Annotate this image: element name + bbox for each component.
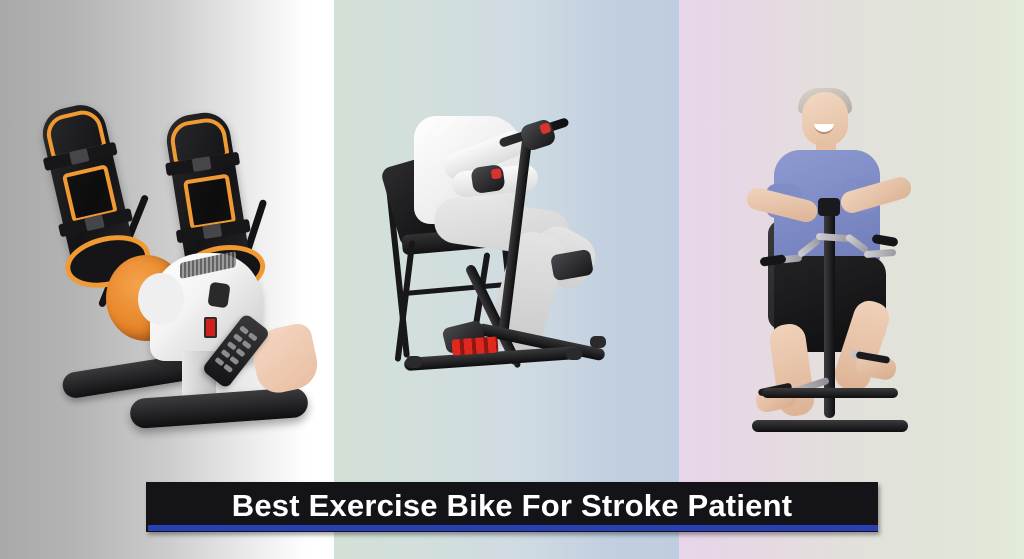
remote-button [248, 332, 258, 341]
housing-side-knob [207, 282, 230, 309]
product-image-upright-pedal-exerciser [380, 100, 640, 400]
resistance-adjuster [451, 336, 498, 355]
glove-accent [491, 168, 502, 179]
glove-accent [539, 122, 552, 135]
power-switch [204, 317, 217, 338]
page-title: Best Exercise Bike For Stroke Patient [232, 490, 792, 521]
product-image-seated-pedal-exerciser-with-user [740, 88, 920, 408]
user-glove-left [470, 164, 505, 194]
leg-brace-buckle-lower [202, 223, 222, 239]
remote-button [223, 364, 233, 373]
remote-button [242, 340, 252, 349]
frame-end-cap [590, 336, 606, 348]
exerciser-cross-rail [762, 388, 898, 398]
hero-image-canvas: Best Exercise Bike For Stroke Patient [0, 0, 1024, 559]
remote-button [221, 349, 231, 358]
flywheel-hub-cover [138, 273, 184, 325]
handlebar-segment [864, 249, 896, 258]
product-image-motorized-pedal-exerciser [42, 105, 312, 395]
leg-brace-buckle-upper [192, 156, 212, 172]
remote-button [227, 341, 237, 350]
remote-button [239, 325, 249, 334]
title-underline [148, 525, 878, 531]
exerciser-t-base [752, 420, 908, 432]
remote-button [233, 333, 243, 342]
frame-end-cap [566, 348, 582, 360]
remote-button [235, 348, 245, 357]
frame-end-cap [406, 356, 422, 368]
post-top-cap [818, 198, 840, 216]
remote-button [214, 357, 224, 366]
leg-brace-left [38, 100, 139, 280]
user-head [802, 92, 848, 146]
remote-button [229, 356, 239, 365]
